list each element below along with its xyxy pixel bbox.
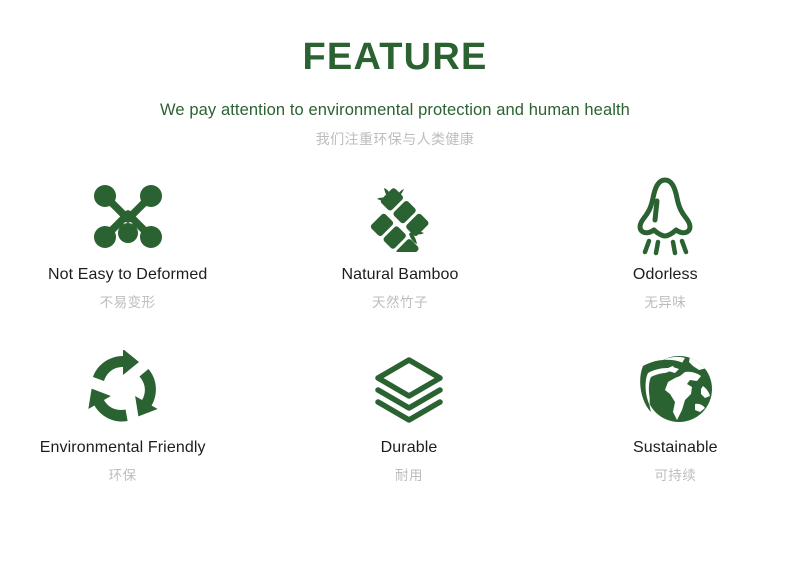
feature-item-odorless: Odorless 无异味	[534, 170, 790, 311]
feature-item-not-easy-to-deformed: Not Easy to Deformed 不易变形	[0, 170, 259, 311]
bamboo-icon	[365, 170, 435, 262]
section-header: FEATURE We pay attention to environmenta…	[0, 38, 790, 148]
feature-item-natural-bamboo: Natural Bamboo 天然竹子	[268, 170, 531, 311]
recycle-icon	[83, 343, 163, 435]
feature-label-en: Sustainable	[633, 438, 718, 457]
feature-label-cn: 不易变形	[100, 295, 156, 311]
feature-label-en: Not Easy to Deformed	[48, 265, 207, 284]
feature-label-cn: 天然竹子	[372, 295, 428, 311]
feature-label-cn: 耐用	[395, 468, 423, 484]
feature-item-environmental-friendly: Environmental Friendly 环保	[0, 343, 254, 484]
page-title: FEATURE	[0, 38, 790, 76]
subtitle-english: We pay attention to environmental protec…	[0, 101, 790, 121]
feature-row-1: Not Easy to Deformed 不易变形	[0, 170, 790, 311]
feature-label-en: Durable	[381, 438, 438, 457]
layers-stack-icon	[372, 343, 446, 435]
feature-label-en: Environmental Friendly	[40, 438, 206, 457]
nose-icon	[632, 170, 698, 262]
molecule-nodes-icon	[91, 170, 165, 262]
globe-leaf-icon	[635, 343, 715, 435]
subtitle-chinese: 我们注重环保与人类健康	[0, 131, 790, 148]
feature-label-en: Natural Bamboo	[341, 265, 458, 284]
feature-row-2: Environmental Friendly 环保 Durable 耐用	[0, 343, 790, 484]
feature-item-sustainable: Sustainable 可持续	[544, 343, 790, 484]
feature-section: FEATURE We pay attention to environmenta…	[0, 0, 790, 576]
feature-label-en: Odorless	[633, 265, 698, 284]
feature-label-cn: 环保	[109, 468, 137, 484]
feature-label-cn: 无异味	[644, 295, 686, 311]
feature-label-cn: 可持续	[654, 468, 696, 484]
feature-item-durable: Durable 耐用	[277, 343, 540, 484]
feature-grid: Not Easy to Deformed 不易变形	[0, 170, 790, 485]
